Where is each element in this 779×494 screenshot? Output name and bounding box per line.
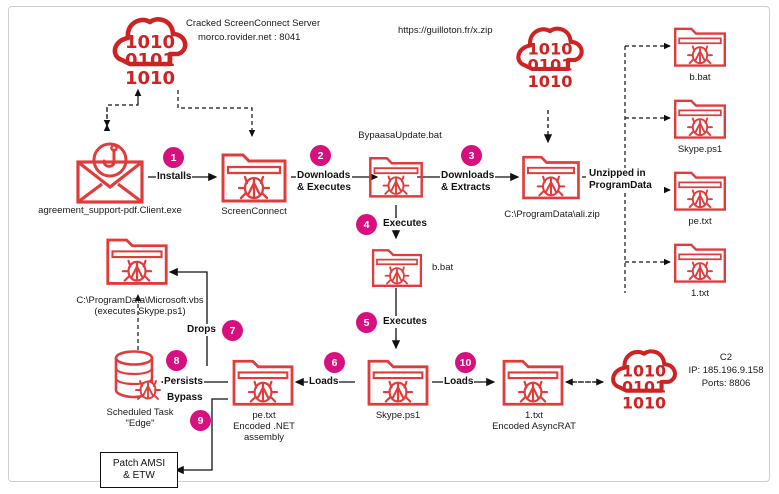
malicious-folder-icon (370, 240, 424, 290)
server-subtitle: morco.rovider.net : 8041 (198, 32, 378, 43)
cloud-bits-row3: 1010 (125, 68, 175, 89)
malicious-folder-icon (230, 350, 296, 408)
step-label-3: Downloads & Extracts (440, 170, 495, 193)
b-bat-label: b.bat (432, 262, 478, 273)
step-label-4: Executes (382, 218, 428, 230)
step-label-8: Persists (163, 376, 204, 388)
malicious-folder-icon (520, 143, 582, 205)
output-file-3 (672, 232, 728, 293)
output-file-label-0: b.bat (664, 72, 736, 83)
ali-zip-label: C:\ProgramData\ali.zip (490, 209, 614, 220)
output-file-1 (672, 88, 728, 149)
step-label-10: Loads (443, 376, 474, 388)
ali-zip-node (520, 143, 582, 210)
malicious-folder-icon (672, 160, 728, 216)
screenconnect-label: ScreenConnect (214, 206, 294, 217)
unzipped-note: Unzipped in ProgramData (588, 168, 664, 191)
step-badge-4: 4 (356, 214, 377, 235)
step-badge-5: 5 (356, 312, 377, 333)
envelope-hook-icon (72, 140, 148, 206)
skype-ps1-label: Skype.ps1 (362, 410, 434, 421)
skype-ps1-node (365, 350, 431, 413)
one-txt-label: 1.txt Encoded AsyncRAT (478, 410, 590, 432)
payload-host-cloud: 1010 0101 1010 (505, 22, 595, 101)
scheduled-task-node (108, 348, 166, 411)
phishing-email-node (72, 140, 148, 211)
step-label-6: Loads (308, 376, 339, 388)
output-file-2 (672, 160, 728, 221)
step-badge-7: 7 (222, 320, 243, 341)
b-bat-node (370, 240, 424, 295)
step-badge-2: 2 (310, 145, 331, 166)
step-label-5: Executes (382, 316, 428, 328)
step-badge-3: 3 (461, 145, 482, 166)
step-badge-9: 9 (190, 410, 211, 431)
pe-txt-node (230, 350, 296, 413)
microsoft-vbs-label: C:\ProgramData\Microsoft.vbs (executes S… (58, 295, 222, 317)
one-txt-node (500, 350, 566, 413)
output-file-label-1: Skype.ps1 (664, 144, 736, 155)
output-file-label-3: 1.txt (664, 288, 736, 299)
step-label-2: Downloads & Executes (296, 170, 352, 193)
cracked-screenconnect-server-cloud: 1010 0101 1010 (100, 14, 200, 97)
malicious-folder-icon (672, 232, 728, 288)
c2-ip: IP: 185.196.9.158 (676, 365, 776, 376)
microsoft-vbs-node (104, 228, 170, 293)
step-label-1: Installs (156, 171, 192, 183)
cloud-binary-icon: 1010 0101 1010 (100, 14, 200, 92)
malicious-folder-icon (365, 350, 431, 408)
server-title: Cracked ScreenConnect Server (186, 18, 366, 29)
c2-cloud: 1010 0101 1010 (600, 345, 688, 422)
malicious-folder-icon (500, 350, 566, 408)
step-badge-1: 1 (163, 147, 184, 168)
c2-ports: Ports: 8806 (676, 378, 776, 389)
step-label-7: Drops (186, 324, 217, 336)
output-file-label-2: pe.txt (664, 216, 736, 227)
diagram-canvas: 1010 0101 1010 Cracked ScreenConnect Ser… (0, 0, 779, 494)
database-bug-icon (108, 348, 166, 406)
c2-title: C2 (676, 352, 776, 363)
cloud-binary-icon: 1010 0101 1010 (505, 22, 595, 96)
cloud-bits-row3: 1010 (527, 72, 572, 91)
step-badge-8: 8 (166, 350, 187, 371)
malicious-folder-icon (219, 143, 289, 205)
pe-txt-label: pe.txt Encoded .NET assembly (218, 410, 310, 443)
malicious-folder-icon (672, 88, 728, 144)
cloud-bits-row3: 1010 (622, 393, 666, 412)
malicious-folder-icon (367, 143, 425, 205)
output-file-0 (672, 16, 728, 77)
bypassa-update-node (367, 143, 425, 210)
screenconnect-node (219, 143, 289, 210)
step-label-9: Bypass (166, 392, 204, 404)
step-badge-6: 6 (324, 352, 345, 373)
step-badge-10: 10 (455, 352, 476, 373)
bypassa-update-label: BypaasaUpdate.bat (345, 130, 455, 141)
cloud-binary-icon: 1010 0101 1010 (600, 345, 688, 417)
patch-amsi-box: Patch AMSI & ETW (100, 452, 178, 488)
malicious-folder-icon (672, 16, 728, 72)
phishing-email-label: agreement_support-pdf.Client.exe (14, 205, 206, 216)
scheduled-task-label: Scheduled Task "Edge" (90, 407, 190, 429)
malicious-folder-icon (104, 228, 170, 288)
